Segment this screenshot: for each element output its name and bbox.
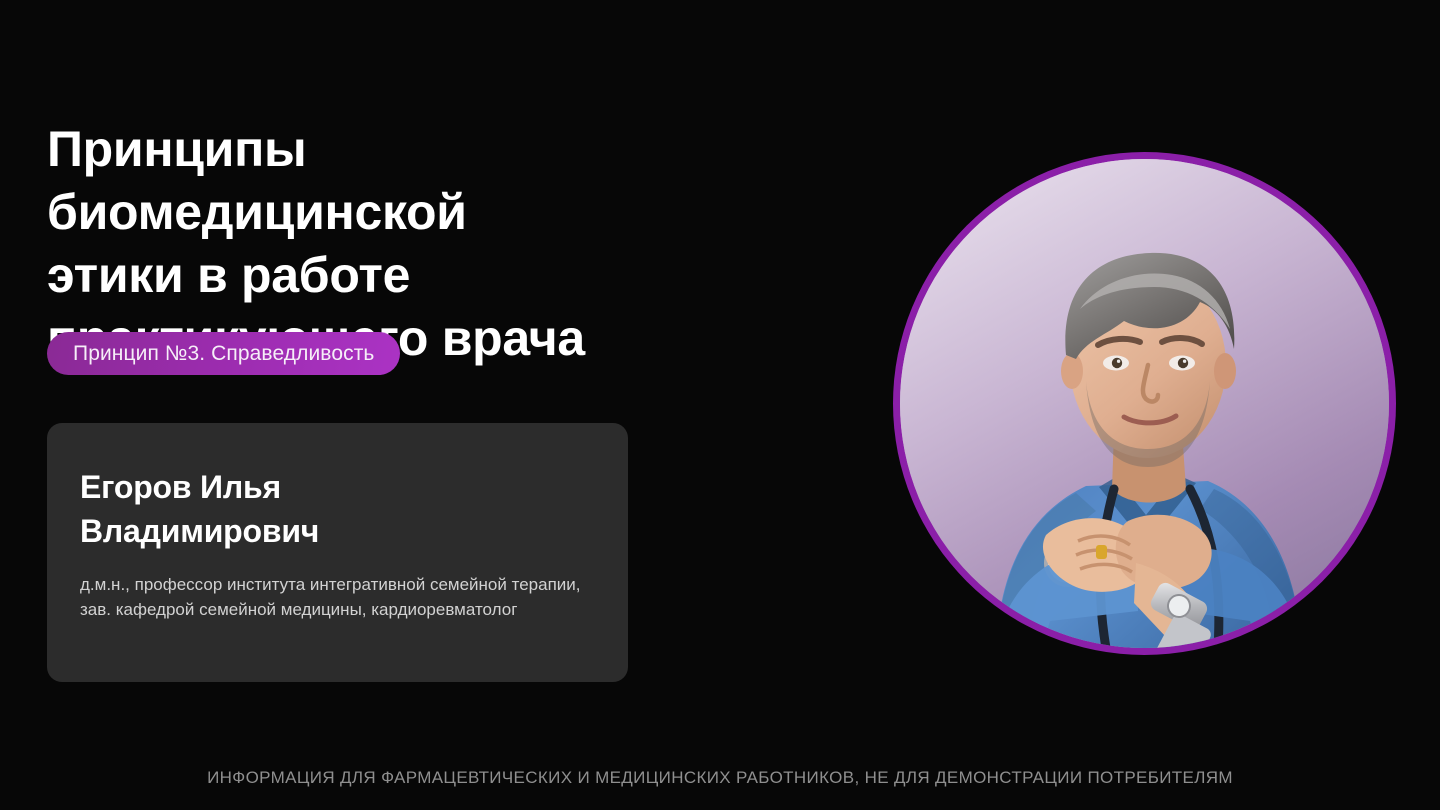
avatar-image-clip (900, 159, 1389, 648)
doctor-portrait-illustration (900, 159, 1389, 648)
avatar (893, 152, 1396, 655)
speaker-card: Егоров Илья Владимирович д.м.н., професс… (47, 423, 628, 682)
presentation-slide: Принципы биомедицинской этики в работе п… (0, 0, 1440, 810)
slide-left-column: Принципы биомедицинской этики в работе п… (47, 0, 747, 810)
principle-badge-label: Принцип №3. Справедливость (73, 342, 374, 366)
speaker-name: Егоров Илья Владимирович (80, 465, 594, 553)
footer-disclaimer: ИНФОРМАЦИЯ ДЛЯ ФАРМАЦЕВТИЧЕСКИХ И МЕДИЦИ… (0, 768, 1440, 788)
status-badge: Принцип №3. Справедливость (47, 332, 400, 375)
speaker-credentials: д.м.н., профессор института интегративно… (80, 572, 594, 622)
